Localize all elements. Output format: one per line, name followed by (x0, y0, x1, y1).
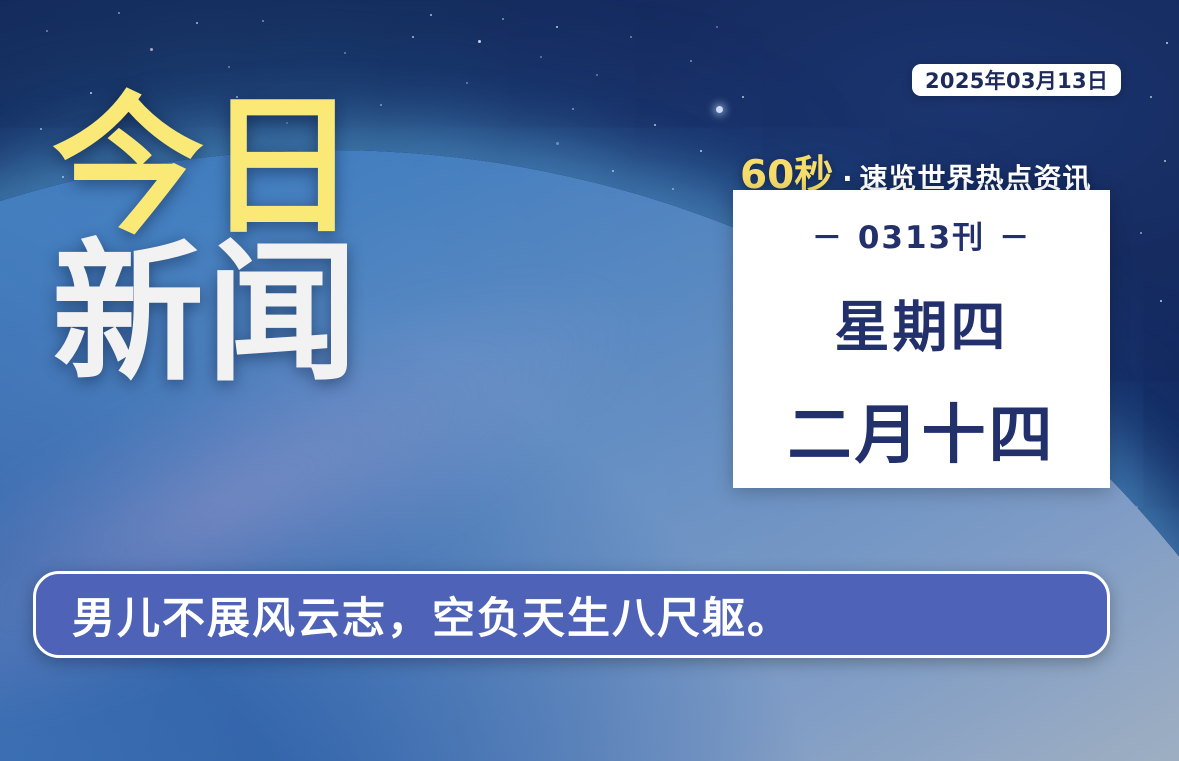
lunar-date-label: 二月十四 (788, 384, 1056, 476)
weekday-label: 星期四 (834, 282, 1008, 362)
dash-right-icon: － (999, 213, 1031, 257)
issue-number-row: － 0313刊 － (812, 212, 1031, 257)
issue-number: 0313刊 (858, 212, 985, 257)
news-poster: 今日 新闻 2025年03月13日 60秒 · 速览世界热点资讯 － 0313刊… (0, 0, 1179, 761)
dash-left-icon: － (812, 213, 844, 257)
page-title: 今日 新闻 (52, 96, 360, 386)
date-info-card: － 0313刊 － 星期四 二月十四 (733, 190, 1110, 488)
title-line-news: 新闻 (52, 243, 360, 386)
title-line-today: 今日 (52, 96, 360, 239)
daily-quote-bar: 男儿不展风云志，空负天生八尺躯。 (33, 571, 1110, 658)
daily-quote-text: 男儿不展风云志，空负天生八尺躯。 (72, 584, 792, 646)
date-badge: 2025年03月13日 (912, 64, 1121, 96)
